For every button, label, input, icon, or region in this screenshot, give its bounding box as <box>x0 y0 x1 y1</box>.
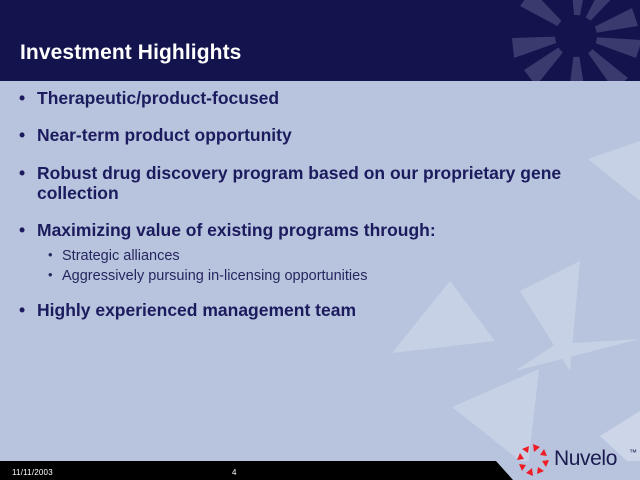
sub-bullet-list: • Strategic alliances • Aggressively pur… <box>0 246 640 286</box>
bullet-marker: • <box>19 88 25 108</box>
sub-bullet-text: Strategic alliances <box>62 248 180 264</box>
bullet-text: Maximizing value of existing programs th… <box>37 220 436 240</box>
bullet-marker: • <box>19 220 25 240</box>
logo-wordmark: Nuvelo <box>554 447 617 471</box>
pinwheel-icon <box>515 442 551 478</box>
starburst-decoration <box>506 0 640 81</box>
bullet-text: Highly experienced management team <box>37 300 356 320</box>
bullet-item: • Highly experienced management team <box>0 300 640 320</box>
bullet-list: • Therapeutic/product-focused • Near-ter… <box>0 88 640 338</box>
bullet-text: Robust drug discovery program based on o… <box>37 163 561 203</box>
nuvelo-logo: Nuvelo ™ <box>515 440 637 478</box>
bullet-marker: • <box>19 125 25 145</box>
sub-bullet-marker: • <box>48 265 53 284</box>
sub-bullet-marker: • <box>48 245 53 264</box>
bullet-item: • Therapeutic/product-focused <box>0 88 640 108</box>
bullet-marker: • <box>19 163 25 183</box>
trademark-symbol: ™ <box>629 448 637 457</box>
bullet-item: • Maximizing value of existing programs … <box>0 220 640 240</box>
bullet-marker: • <box>19 300 25 320</box>
sub-bullet-text: Aggressively pursuing in-licensing oppor… <box>62 268 367 284</box>
page-title: Investment Highlights <box>20 41 241 65</box>
slide: Investment Highlights • Therapeutic/prod… <box>0 0 640 480</box>
footer-page-number: 4 <box>232 468 236 477</box>
bullet-text: Therapeutic/product-focused <box>37 88 279 108</box>
bullet-item: • Near-term product opportunity <box>0 125 640 145</box>
title-bar: Investment Highlights <box>0 0 640 81</box>
bullet-item: • Robust drug discovery program based on… <box>0 163 640 204</box>
sub-bullet-item: • Aggressively pursuing in-licensing opp… <box>0 266 640 286</box>
sub-bullet-item: • Strategic alliances <box>0 246 640 266</box>
bullet-text: Near-term product opportunity <box>37 125 292 145</box>
footer-date: 11/11/2003 <box>12 468 53 477</box>
